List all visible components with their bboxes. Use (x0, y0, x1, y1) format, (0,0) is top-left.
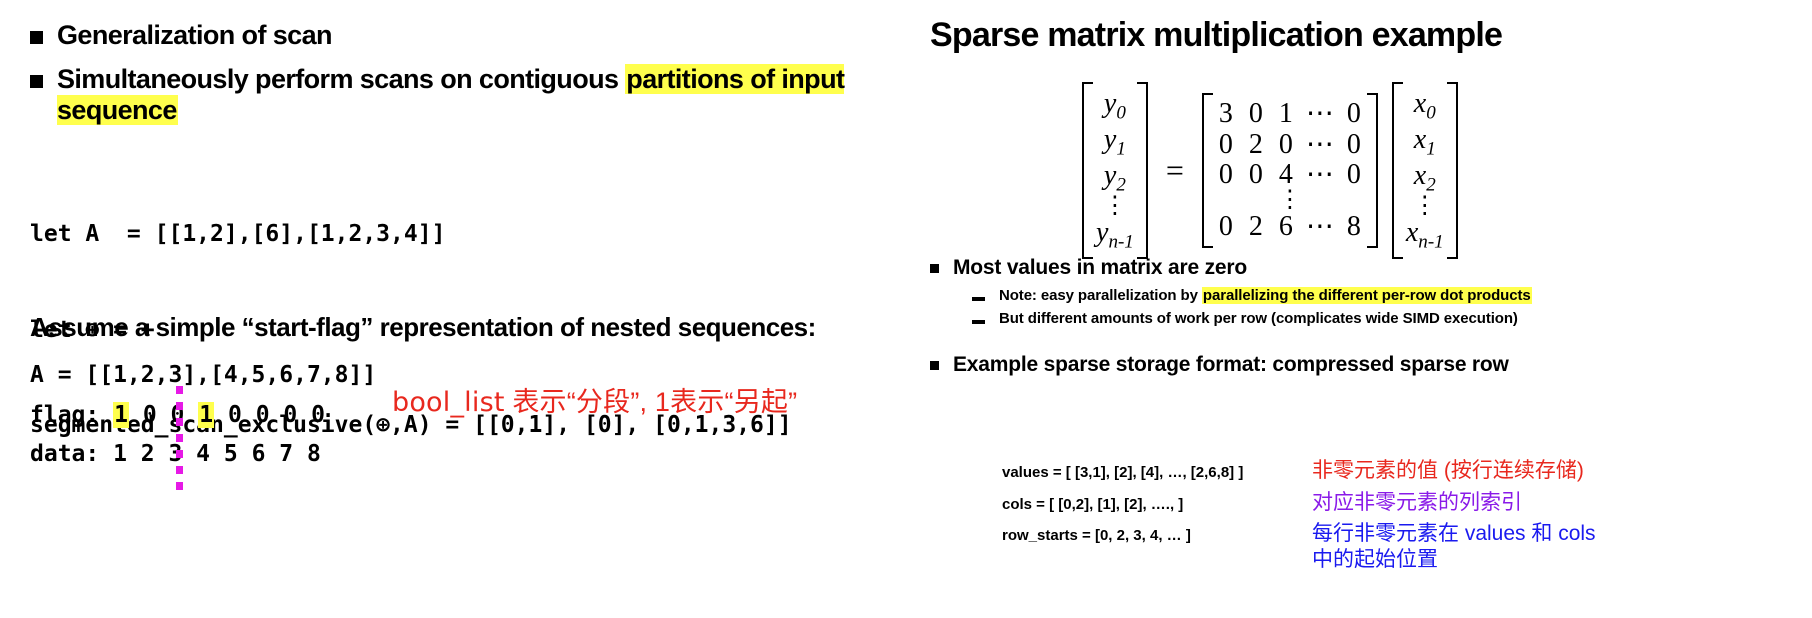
page-title: Sparse matrix multiplication example (930, 16, 1502, 55)
sub-bullet-text: But different amounts of work per row (c… (999, 310, 1518, 327)
matrix-row-0: 301⋯0 (1216, 99, 1364, 129)
sparse-matrix-equation: y0y1y2⋮yn-1 = 301⋯0020⋯0004⋯0⋮026⋯8 x0x1… (1080, 82, 1460, 259)
bullet-text: Generalization of scan (57, 20, 332, 51)
bool-list-annotation: bool_list 表示“分段”, 1表示“另起” (392, 380, 797, 419)
flag-values-line: flag: 1 0 0 1 0 0 0 0 (30, 396, 376, 436)
matrix-cell-2-3: ⋯ (1306, 160, 1334, 190)
sub-bullet-different-work-per-row: But different amounts of work per row (c… (972, 310, 1812, 327)
data-values-line: data: 1 2 3 4 5 6 7 8 (30, 435, 376, 475)
csr-note-cols: 对应非零元素的列索引 (1312, 490, 1522, 516)
x-entry-3: ⋮ (1413, 196, 1437, 218)
matrix-cell-1-2: 0 (1276, 130, 1296, 160)
x-entry-4: xn-1 (1406, 217, 1444, 253)
matrix-cell-0-4: 0 (1344, 99, 1364, 129)
y-entry-3: ⋮ (1103, 196, 1127, 218)
left-content-pane: Generalization of scan Simultaneously pe… (0, 0, 930, 618)
flag-value-7: 0 (311, 402, 325, 428)
matrix-cell-4-3: ⋯ (1306, 212, 1334, 242)
square-bullet-icon (30, 75, 43, 88)
y-entry-2: y2 (1104, 160, 1126, 196)
vertical-ellipsis: ⋮ (1413, 196, 1437, 218)
matrix-cell-2-4: 0 (1344, 160, 1364, 190)
csr-note-values: 非零元素的值 (按行连续存储) (1312, 458, 1584, 484)
coefficient-matrix: 301⋯0020⋯0004⋯0⋮026⋯8 (1200, 93, 1380, 248)
matrix-cell-4-0: 0 (1216, 212, 1236, 242)
start-flag-heading: Assume a simple “start-flag” representat… (30, 312, 816, 343)
x-entry-0: x0 (1414, 88, 1436, 124)
bullet-example-sparse-storage-format: Example sparse storage format: compresse… (930, 353, 1812, 377)
csr-row-row-starts: row_starts = [0, 2, 3, 4, … ] 每行非零元素在 va… (960, 521, 1812, 572)
matrix-cell-2-1: 0 (1246, 160, 1266, 190)
equals-sign: = (1160, 152, 1190, 189)
matrix-cell-1-1: 2 (1246, 130, 1266, 160)
code-line-let-a: let A = [[1,2],[6],[1,2,3,4]] (30, 219, 792, 251)
right-content-pane: Sparse matrix multiplication example y0y… (930, 0, 1812, 618)
sub-bullet-highlight: parallelizing the different per-row dot … (1202, 287, 1532, 304)
csr-format-table: values = [ [3,1], [2], [4], …, [2,6,8] ]… (960, 458, 1812, 578)
sub-bullet-text: Note: easy parallelization by (999, 287, 1202, 304)
matrix-cell-0-2: 1 (1276, 99, 1296, 129)
y-entry-0: y0 (1104, 88, 1126, 124)
dash-bullet-icon (972, 297, 985, 301)
flag-value-1: 0 (143, 402, 157, 428)
csr-note-row-starts-line-1: 中的起始位置 (1312, 547, 1596, 573)
flag-representation-block: A = [[1,2,3],[4,5,6,7,8]] flag: 1 0 0 1 … (30, 356, 376, 475)
flag-value-4: 0 (228, 402, 242, 428)
left-bullet-list: Generalization of scan Simultaneously pe… (30, 20, 920, 126)
matrix-row-1: 020⋯0 (1216, 130, 1364, 160)
matrix-cell-1-0: 0 (1216, 130, 1236, 160)
matrix-cell-1-4: 0 (1344, 130, 1364, 160)
segment-boundary-dotted-line (176, 386, 183, 490)
matrix-cell-0-0: 3 (1216, 99, 1236, 129)
matrix-cell-0-3: ⋯ (1306, 99, 1334, 129)
flag-label: flag: (30, 402, 113, 428)
y-label: y1 (1104, 124, 1126, 160)
matrix-cell-0-1: 0 (1246, 99, 1266, 129)
matrix-cell-2-0: 0 (1216, 160, 1236, 190)
bool-list-code-token: bool_list (392, 387, 505, 418)
sub-bullet-list: Note: easy parallelization by paralleliz… (972, 287, 1812, 327)
bullet-most-values-in-matrix-are-zero: Most values in matrix are zero (930, 256, 1812, 280)
square-bullet-icon (930, 264, 939, 273)
bullet-simultaneous-scans: Simultaneously perform scans on contiguo… (30, 64, 920, 126)
data-label: data: (30, 441, 113, 467)
matrix-cell-4-1: 2 (1246, 212, 1266, 242)
code-line-a-nested: A = [[1,2,3],[4,5,6,7,8]] (30, 356, 376, 396)
bullet-text: Simultaneously perform scans on contiguo… (57, 64, 625, 94)
matrix-row-3: ⋮ (1278, 190, 1302, 212)
y-entry-4: yn-1 (1096, 217, 1134, 253)
x-entry-2: x2 (1414, 160, 1436, 196)
bullet-text: Example sparse storage format: compresse… (953, 353, 1509, 377)
csr-note-row-starts: 每行非零元素在 values 和 cols中的起始位置 (1312, 521, 1596, 572)
matrix-cell-4-2: 6 (1276, 212, 1296, 242)
square-bullet-icon (30, 31, 43, 44)
matrix-cell-2-2: 4 (1276, 160, 1296, 190)
sub-bullet-easy-parallelization: Note: easy parallelization by paralleliz… (972, 287, 1812, 304)
matrix-vertical-ellipsis: ⋮ (1278, 190, 1302, 212)
y-label: y0 (1104, 88, 1126, 124)
bullet-group-sparse-storage: Example sparse storage format: compresse… (930, 353, 1812, 377)
bullet-text-wrapper: Simultaneously perform scans on contiguo… (57, 64, 920, 126)
flag-value-0: 1 (113, 402, 129, 428)
matrix-row-4: 026⋯8 (1216, 212, 1364, 242)
y-label: yn-1 (1096, 217, 1134, 253)
csr-row-cols: cols = [ [0,2], [1], [2], …., ] 对应非零元素的列… (960, 490, 1812, 516)
flag-value-3: 1 (198, 402, 214, 428)
bullet-group-most-values-zero: Most values in matrix are zero Note: eas… (930, 256, 1812, 327)
x-vector-matrix: x0x1x2⋮xn-1 (1390, 82, 1460, 259)
x-label: x0 (1414, 88, 1436, 124)
csr-note-row-starts-line-0: 每行非零元素在 values 和 cols (1312, 521, 1596, 547)
sub-bullet-text-wrapper: Note: easy parallelization by paralleliz… (999, 287, 1532, 304)
flag-value-5: 0 (256, 402, 270, 428)
csr-row-values: values = [ [3,1], [2], [4], …, [2,6,8] ]… (960, 458, 1812, 484)
y-vector-matrix: y0y1y2⋮yn-1 (1080, 82, 1150, 259)
csr-code-cols: cols = [ [0,2], [1], [2], …., ] (960, 496, 1312, 513)
y-entry-1: y1 (1104, 124, 1126, 160)
bullet-text: Most values in matrix are zero (953, 256, 1247, 280)
matrix-cell-1-3: ⋯ (1306, 130, 1334, 160)
right-bullet-list: Most values in matrix are zero Note: eas… (930, 256, 1812, 377)
matrix-cell-4-4: 8 (1344, 212, 1364, 242)
bullet-generalization-of-scan: Generalization of scan (30, 20, 920, 51)
x-label: x1 (1414, 124, 1436, 160)
bool-list-note-text: 表示“分段”, 1表示“另起” (505, 387, 798, 417)
flag-value-6: 0 (283, 402, 297, 428)
x-entry-1: x1 (1414, 124, 1436, 160)
dash-bullet-icon (972, 320, 985, 324)
x-label: x2 (1414, 160, 1436, 196)
vertical-ellipsis: ⋮ (1103, 196, 1127, 218)
csr-code-row-starts: row_starts = [0, 2, 3, 4, … ] (960, 527, 1312, 544)
y-label: y2 (1104, 160, 1126, 196)
x-label: xn-1 (1406, 217, 1444, 253)
matrix-row-2: 004⋯0 (1216, 160, 1364, 190)
square-bullet-icon (930, 361, 939, 370)
csr-code-values: values = [ [3,1], [2], [4], …, [2,6,8] ] (960, 464, 1312, 481)
